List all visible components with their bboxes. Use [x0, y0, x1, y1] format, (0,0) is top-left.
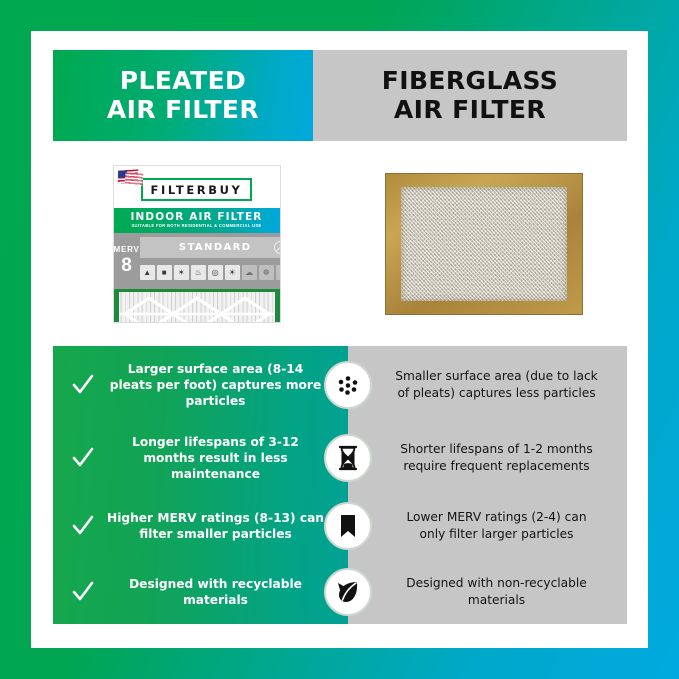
comparison-row-left: Higher MERV ratings (8-13) can filter sm…: [53, 492, 348, 560]
header-pleated-title-line2: AIR FILTER: [107, 96, 259, 124]
smoke-icon: ☁: [242, 265, 257, 280]
comparison-row-right: Lower MERV ratings (2-4) can only filter…: [348, 492, 627, 560]
comparison-row-left: Designed with recyclable materials: [53, 560, 348, 624]
comparison-left-text: Designed with recyclable materials: [105, 576, 326, 608]
leaf-icon: [324, 568, 372, 616]
checkmark-icon: [71, 580, 95, 604]
odor-icon: ♲: [276, 265, 281, 280]
header-fiberglass-title: FIBERGLASS AIR FILTER: [382, 67, 558, 124]
bacteria-icon: ◎: [208, 265, 223, 280]
infographic-card: PLEATED AIR FILTER FIBERGLASS AIR FILTER: [31, 31, 648, 648]
comparison-table: Larger surface area (8-14 pleats per foo…: [53, 346, 627, 624]
pleated-filter-image: FILTERBUY INDOOR AIR FILTER SUITABLE FOR…: [113, 165, 281, 323]
checkmark-icon: [71, 446, 95, 470]
header-pleated-panel: PLEATED AIR FILTER: [53, 50, 313, 141]
merv-value: 8: [121, 256, 132, 275]
comparison-right-text: Shorter lifespans of 1-2 months require …: [392, 441, 601, 474]
comparison-right-text: Smaller surface area (due to lack of ple…: [392, 368, 601, 401]
checkmark-icon: [71, 373, 95, 397]
bookmark-icon: [324, 502, 372, 550]
header-band: PLEATED AIR FILTER FIBERGLASS AIR FILTER: [53, 50, 627, 141]
comparison-right-text: Designed with non-recyclable materials: [392, 575, 601, 608]
fiberglass-product-cell: [340, 151, 627, 336]
comparison-row-right: Shorter lifespans of 1-2 months require …: [348, 424, 627, 492]
allergen-icon-row: ▲ ■ ✶ ♨ ◎ ☀ ☁ ☸ ♲: [140, 262, 281, 284]
pleated-spec-right: STANDARD ▲ ■ ✶ ♨ ◎ ☀ ☁ ☸: [140, 233, 281, 289]
infographic-frame: PLEATED AIR FILTER FIBERGLASS AIR FILTER: [0, 0, 679, 679]
comparison-left-text: Higher MERV ratings (8-13) can filter sm…: [105, 510, 326, 542]
comparison-row-right: Smaller surface area (due to lack of ple…: [348, 346, 627, 424]
fiberglass-filter-image: [386, 174, 582, 314]
grade-label: STANDARD: [179, 242, 252, 253]
merv-label: MERV: [114, 246, 140, 254]
comparison-row-left: Longer lifespans of 3-12 months result i…: [53, 424, 348, 492]
header-fiberglass-panel: FIBERGLASS AIR FILTER: [313, 50, 627, 141]
header-fiberglass-title-line1: FIBERGLASS: [382, 67, 558, 95]
fiberglass-mesh-texture: [401, 187, 567, 301]
hourglass-icon: [324, 434, 372, 482]
comparison-rows: Larger surface area (8-14 pleats per foo…: [53, 346, 627, 624]
pleated-filter-top: FILTERBUY: [114, 166, 280, 208]
usa-flag-icon-secondary: [124, 172, 143, 186]
product-image-row: FILTERBUY INDOOR AIR FILTER SUITABLE FOR…: [53, 151, 627, 336]
pleated-spec-strip: MERV 8 STANDARD ▲ ■ ✶: [114, 233, 280, 289]
grade-bar: STANDARD: [140, 237, 281, 258]
comparison-row-left: Larger surface area (8-14 pleats per foo…: [53, 346, 348, 424]
comparison-left-text: Longer lifespans of 3-12 months result i…: [105, 434, 326, 483]
no-smoke-icon: [274, 241, 281, 254]
comparison-left-text: Larger surface area (8-14 pleats per foo…: [105, 361, 326, 410]
checkmark-icon: [71, 514, 95, 538]
pleated-band-subtitle: SUITABLE FOR BOTH RESIDENTIAL & COMMERCI…: [131, 224, 261, 228]
pleated-product-cell: FILTERBUY INDOOR AIR FILTER SUITABLE FOR…: [53, 151, 340, 336]
diamond-grid-icon: [119, 292, 275, 323]
pleated-media-area: FILTERBUY: [114, 289, 280, 323]
comparison-row-right: Designed with non-recyclable materials: [348, 560, 627, 624]
filterbuy-brand-text: FILTERBUY: [151, 183, 243, 197]
header-pleated-title: PLEATED AIR FILTER: [107, 67, 259, 124]
particles-icon: [324, 361, 372, 409]
comparison-right-text: Lower MERV ratings (2-4) can only filter…: [392, 509, 601, 542]
filterbuy-logo-box: FILTERBUY: [141, 178, 253, 201]
pleated-band-title: INDOOR AIR FILTER: [131, 212, 263, 223]
pleated-filter-band: INDOOR AIR FILTER SUITABLE FOR BOTH RESI…: [114, 208, 280, 233]
pet-dander-icon: ☀: [225, 265, 240, 280]
header-pleated-title-line1: PLEATED: [107, 67, 259, 95]
header-fiberglass-title-line2: AIR FILTER: [382, 96, 558, 124]
pleat-diamond-pattern: [119, 292, 275, 323]
virus-icon: ☸: [259, 265, 274, 280]
mold-icon: ♨: [191, 265, 206, 280]
allergen-icon: ▲: [140, 265, 155, 280]
pollen-icon: ✶: [174, 265, 189, 280]
dust-icon: ■: [157, 265, 172, 280]
merv-badge: MERV 8: [114, 233, 140, 289]
